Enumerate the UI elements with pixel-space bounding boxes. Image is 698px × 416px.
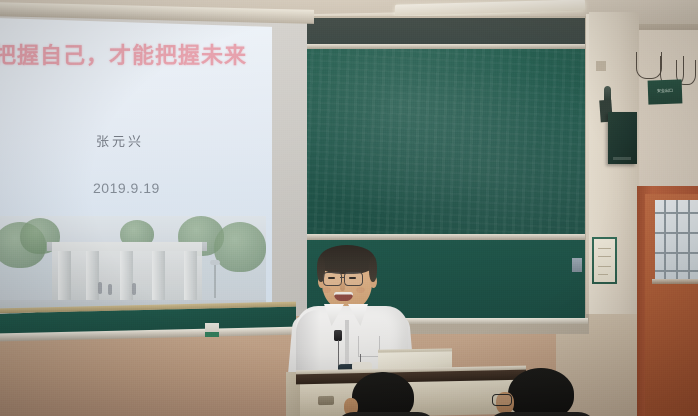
student-front-left — [340, 372, 430, 416]
student-right-shoulders — [486, 412, 598, 416]
wall-vent — [596, 61, 606, 71]
student-right-head — [508, 368, 574, 416]
presenter-nose — [340, 282, 345, 291]
window-bar-h3 — [655, 252, 698, 254]
gate-column-3 — [120, 251, 133, 301]
gate-lamp-post — [214, 264, 216, 298]
window-bar-h4 — [655, 270, 698, 272]
window-bar-h1 — [655, 212, 698, 214]
slide-campus-gate-photo — [0, 216, 266, 314]
classroom-photo-scene: 安全出口 把握自己，才能把握未来 — [0, 0, 698, 416]
presenter-shirt-pocket — [358, 336, 380, 357]
presenter-brow-right — [346, 269, 359, 271]
window-bar-h2 — [655, 232, 698, 234]
chalkboard-divider-top — [302, 44, 585, 49]
gate-column-4 — [152, 251, 165, 301]
gate-column-2 — [86, 251, 99, 301]
notice-line-3 — [598, 266, 611, 267]
chalkboard-main-panel — [302, 48, 585, 236]
chalkboard-divider-bottom — [300, 234, 585, 240]
presenter-eyeglass-right — [344, 272, 363, 286]
notice-line-1 — [598, 248, 611, 249]
framed-notice-paper — [594, 239, 615, 282]
chalkboard-eraser[interactable] — [205, 323, 219, 337]
exit-sign-label: 安全出口 — [651, 88, 679, 95]
wall-speaker — [608, 112, 637, 164]
presenter-smile — [334, 292, 353, 301]
student-front-right — [494, 368, 590, 416]
hanging-cable-1 — [636, 52, 662, 79]
presenter-eye-left — [328, 277, 335, 279]
presenter-eye-right — [349, 277, 356, 279]
presenter-hair-side-right — [369, 256, 377, 282]
presenter-brow-left — [325, 269, 338, 271]
gate-figure-3 — [132, 283, 136, 295]
slide-date: 2019.9.19 — [93, 180, 160, 196]
presenter-eyeglass-bridge — [340, 277, 345, 278]
gate-column-1 — [58, 251, 71, 301]
presenter-cheek-right — [356, 287, 365, 293]
presenter-cheek-left — [322, 287, 331, 293]
wall-switch-plate — [572, 258, 582, 272]
gate-tree-right2 — [214, 222, 266, 272]
student-left-shoulders — [334, 412, 438, 416]
door-window-sill — [652, 279, 698, 284]
slide-title: 把握自己，才能把握未来 — [0, 44, 264, 70]
notice-line-4 — [598, 274, 608, 275]
gate-figure-1 — [98, 282, 102, 294]
student-right-eyeglasses — [492, 394, 512, 406]
student-left-head — [352, 372, 414, 416]
wall-corner — [586, 14, 589, 314]
gate-figure-2 — [108, 284, 112, 295]
gate-column-5 — [184, 251, 197, 301]
lectern-handle[interactable] — [318, 396, 334, 405]
slide-author: 张元兴 — [96, 131, 144, 150]
notice-line-2 — [598, 256, 611, 257]
